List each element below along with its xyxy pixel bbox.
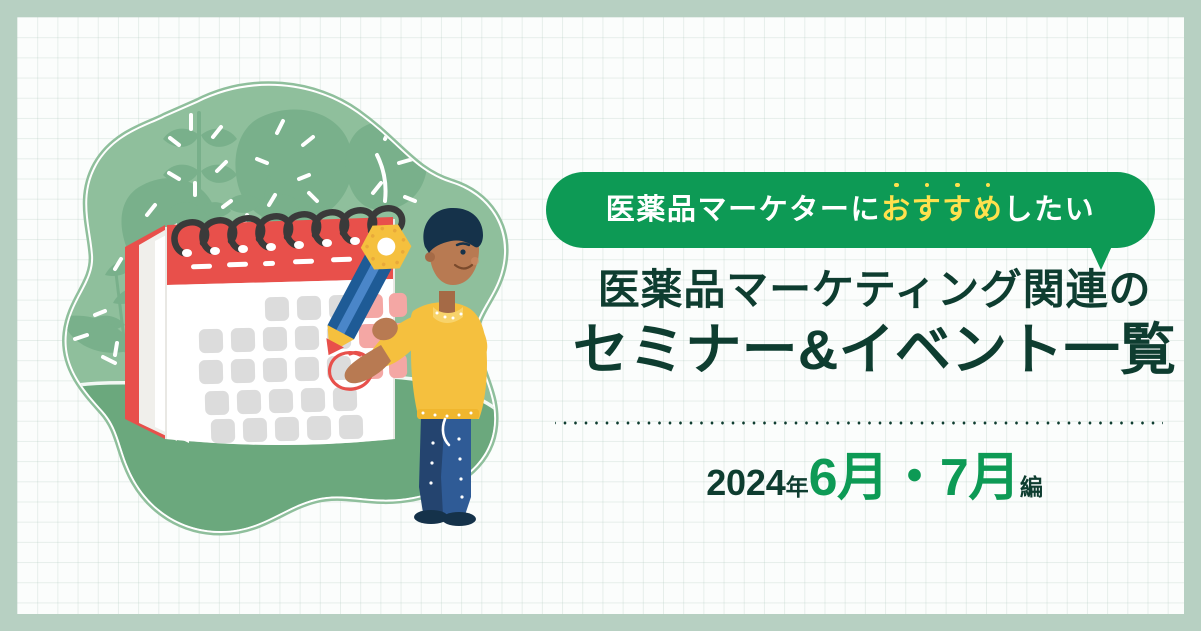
edition-months: 6月・7月 xyxy=(809,449,1020,507)
ribbon-body: 医薬品マーケターに おすすめ したい xyxy=(546,172,1155,248)
headline-line-1: 医薬品マーケティング関連の xyxy=(547,269,1184,311)
ribbon-text-plain: 医薬品マーケターに xyxy=(606,196,881,225)
recommendation-ribbon: 医薬品マーケターに おすすめ したい xyxy=(546,172,1155,248)
person-eye xyxy=(460,249,465,254)
headline-line-2: セミナー&イベント一覧 xyxy=(547,322,1184,378)
ribbon-text-tail: したい xyxy=(1003,196,1095,225)
edition-dateline: 2024年6月・7月編 xyxy=(547,452,1184,504)
emphasis-dots xyxy=(881,183,1003,188)
ribbon-text-highlight: おすすめ xyxy=(881,196,1003,225)
edition-suffix: 編 xyxy=(1020,474,1043,500)
person-shirt-hem xyxy=(417,409,479,419)
seminar-event-banner: 医薬品マーケターに おすすめ したい 医薬品マーケティング関連の セミナー&イベ… xyxy=(0,0,1201,631)
person-front-leg xyxy=(441,415,471,515)
person-cheek xyxy=(471,257,479,265)
ribbon-text: 医薬品マーケターに おすすめ したい xyxy=(606,196,1096,225)
dotted-divider xyxy=(555,421,1163,425)
person-ear xyxy=(425,252,435,262)
edition-year-unit: 年 xyxy=(786,474,809,500)
person-shoe-right xyxy=(442,512,476,526)
edition-year: 2024 xyxy=(706,462,785,503)
ribbon-highlight-label: おすすめ xyxy=(881,194,1003,226)
person-neck xyxy=(439,291,455,313)
banner-stage: 医薬品マーケターに おすすめ したい 医薬品マーケティング関連の セミナー&イベ… xyxy=(17,17,1184,614)
calendar-planning-illustration xyxy=(47,67,527,567)
copy-column: 医薬品マーケターに おすすめ したい 医薬品マーケティング関連の セミナー&イベ… xyxy=(523,17,1184,614)
